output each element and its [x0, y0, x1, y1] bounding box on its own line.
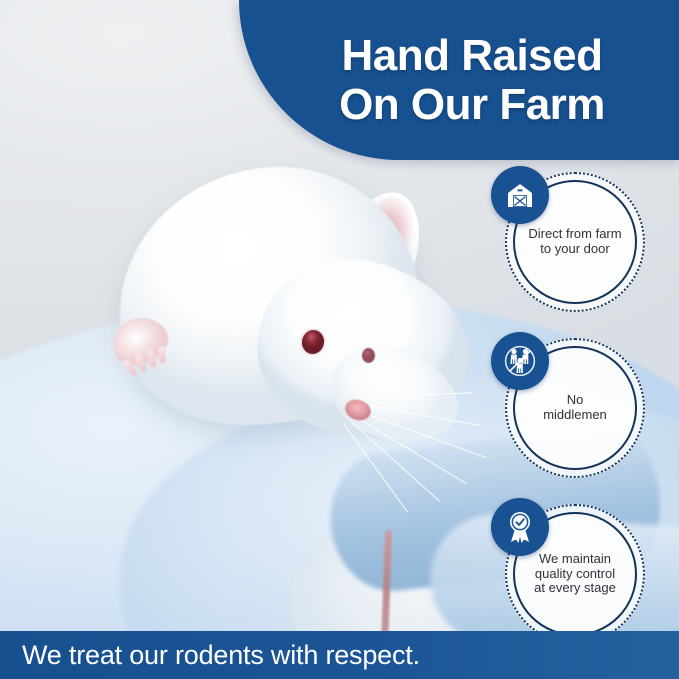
footer-banner: We treat our rodents with respect.: [0, 631, 679, 679]
feature-badge-direct-from-farm: Direct from farm to your door: [491, 166, 651, 318]
badge-text: Direct from farm to your door: [520, 227, 629, 257]
footer-tagline: We treat our rodents with respect.: [0, 640, 420, 671]
badge-text: We maintain quality control at every sta…: [526, 552, 624, 597]
feature-badge-quality-control: We maintain quality control at every sta…: [491, 498, 651, 650]
feature-badge-list: Direct from farm to your door No: [491, 166, 671, 664]
header-title-line-1: Hand Raised: [341, 34, 602, 77]
badge-text-line-2: to your door: [528, 242, 621, 257]
badge-text-line-1: No: [543, 393, 607, 408]
badge-text-line-3: at every stage: [534, 581, 616, 596]
feature-badge-no-middlemen: No middlemen: [491, 332, 651, 484]
no-middlemen-icon: [491, 332, 549, 390]
header-title-line-2: On Our Farm: [339, 83, 605, 126]
promo-image-canvas: Hand Raised On Our Farm Direct from farm…: [0, 0, 679, 679]
badge-text-line-2: quality control: [534, 567, 616, 582]
barn-icon: [491, 166, 549, 224]
quality-rosette-icon: [491, 498, 549, 556]
badge-text-line-1: Direct from farm: [528, 227, 621, 242]
badge-text-line-2: middlemen: [543, 408, 607, 423]
badge-text-line-1: We maintain: [534, 552, 616, 567]
mouse-eye-far: [362, 348, 375, 363]
badge-text: No middlemen: [535, 393, 615, 423]
